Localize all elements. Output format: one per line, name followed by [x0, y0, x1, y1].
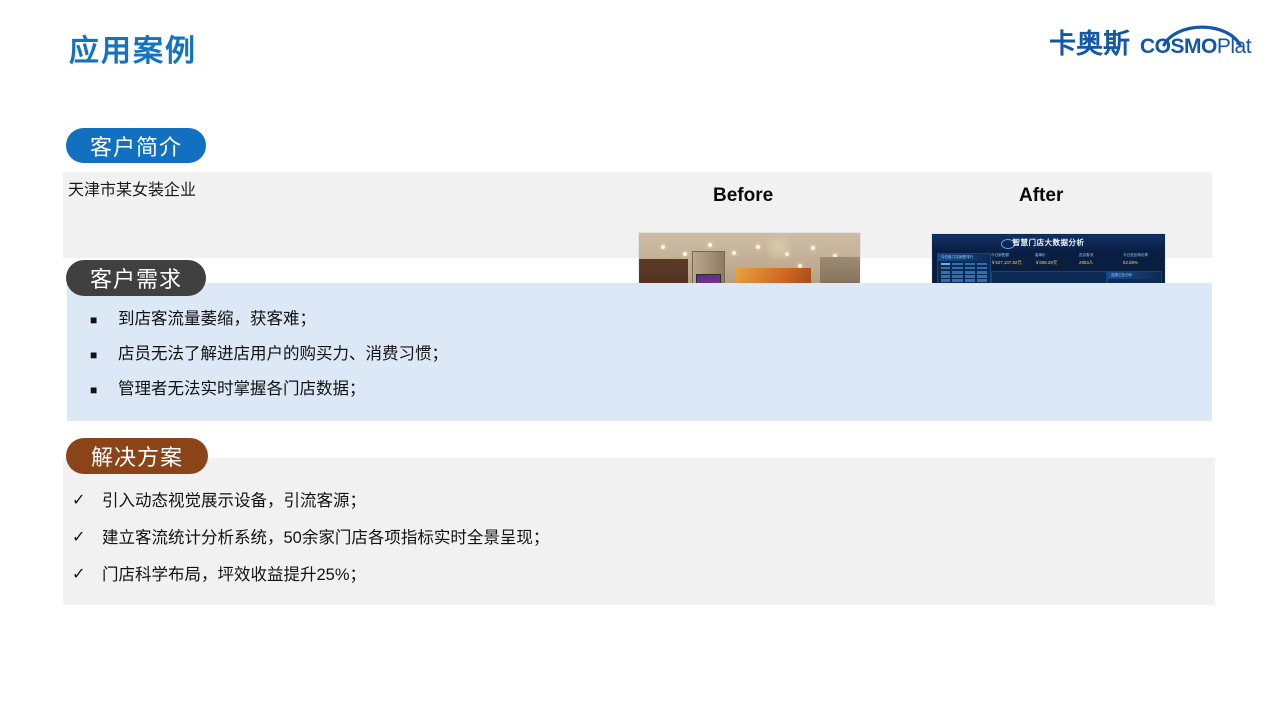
list-item: ■ 管理者无法实时掌握各门店数据； — [90, 378, 448, 402]
before-label: Before — [713, 185, 773, 207]
dashboard-kpi-row: 今日销售额 ￥527,107.82元 客单价 ￥698.28元 进店客流 295… — [991, 253, 1161, 268]
list-item: ■ 店员无法了解进店用户的购买力、消费习惯； — [90, 343, 448, 367]
logo-chinese-text: 卡奥斯 — [1049, 31, 1130, 58]
list-item: ✓ 引入动态视觉展示设备，引流客源； — [72, 490, 549, 512]
kpi-item: 今日销售额 ￥527,107.82元 — [991, 253, 1029, 268]
kpi-item: 客单价 ￥698.28元 — [1035, 253, 1073, 268]
check-bullet-icon: ✓ — [72, 564, 102, 586]
logo-mark: COSMOPlat — [1140, 22, 1262, 66]
page-title: 应用案例 — [69, 26, 197, 70]
logo-english-text: COSMOPlat — [1140, 36, 1262, 57]
kpi-item: 今日进店转化率 52.88% — [1123, 253, 1161, 268]
check-bullet-icon: ✓ — [72, 490, 102, 512]
list-item: ✓ 门店科学布局，坪效收益提升25%； — [72, 564, 549, 586]
badge-customer-needs: 客户需求 — [66, 260, 206, 296]
customer-needs-list: ■ 到店客流量萎缩，获客难； ■ 店员无法了解进店用户的购买力、消费习惯； ■ … — [90, 308, 448, 413]
logo-cosmo: COSMO — [1140, 35, 1217, 58]
solution-list: ✓ 引入动态视觉展示设备，引流客源； ✓ 建立客流统计分析系统，50余家门店各项… — [72, 490, 549, 601]
check-bullet-icon: ✓ — [72, 527, 102, 549]
list-item: ■ 到店客流量萎缩，获客难； — [90, 308, 448, 332]
dashboard-title: 智慧门店大数据分析 — [933, 237, 1164, 248]
after-label: After — [1019, 185, 1063, 207]
customer-intro-text: 天津市某女装企业 — [68, 176, 196, 200]
list-item: ✓ 建立客流统计分析系统，50余家门店各项指标实时全景呈现； — [72, 527, 549, 549]
square-bullet-icon: ■ — [90, 343, 118, 367]
slide-root: 应用案例 卡奥斯 COSMOPlat 客户简介 天津市某女装企业 Before … — [0, 0, 1278, 720]
square-bullet-icon: ■ — [90, 308, 118, 332]
badge-customer-intro: 客户简介 — [66, 128, 206, 163]
kpi-item: 进店客流 2953人 — [1079, 253, 1117, 268]
badge-solution: 解决方案 — [66, 438, 208, 474]
square-bullet-icon: ■ — [90, 378, 118, 402]
brand-logo: 卡奥斯 COSMOPlat — [1049, 22, 1262, 66]
logo-plat: Plat — [1217, 35, 1251, 58]
